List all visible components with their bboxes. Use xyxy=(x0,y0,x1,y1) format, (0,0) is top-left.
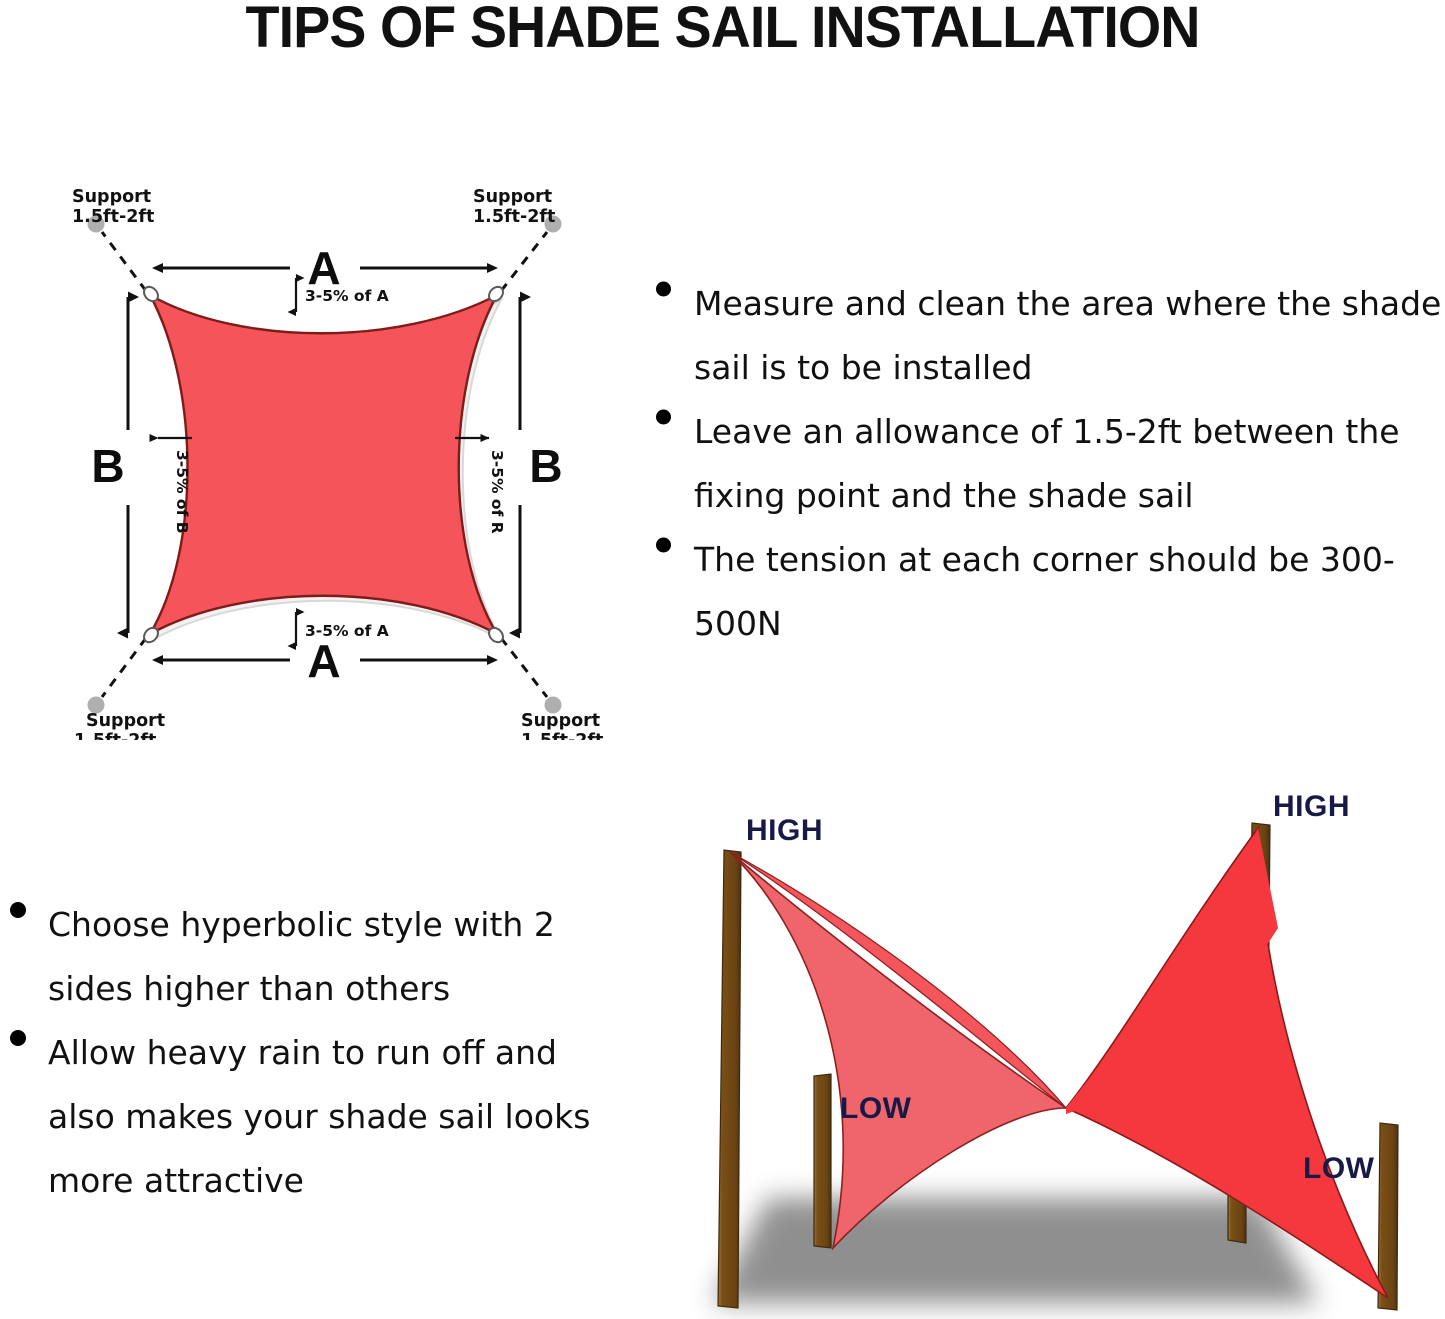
post-high-left xyxy=(718,850,741,1308)
support-line1-top-right: Support xyxy=(473,187,552,207)
bullet-dot-icon xyxy=(656,410,671,425)
support-line2-top-left: 1.5ft-2ft xyxy=(72,207,154,227)
dim-label-left-B: B xyxy=(91,440,124,492)
support-line2-top-right: 1.5ft-2ft xyxy=(473,207,555,227)
pct-label-right: 3-5% of R xyxy=(488,450,506,534)
label-high-left: HIGH xyxy=(746,814,823,847)
dim-label-bottom-A: A xyxy=(307,635,340,687)
tip-item: Allow heavy rain to run off and also mak… xyxy=(4,1021,624,1213)
pct-label-bottom: 3-5% of A xyxy=(305,622,389,640)
page-title: TIPS OF SHADE SAIL INSTALLATION xyxy=(29,0,1416,60)
label-high-right: HIGH xyxy=(1273,790,1350,823)
support-line-bottom-left xyxy=(102,638,146,697)
post-low-right xyxy=(1378,1123,1398,1310)
tip-text: Leave an allowance of 1.5-2ft between th… xyxy=(694,412,1400,515)
tip-item: Measure and clean the area where the sha… xyxy=(648,272,1445,400)
tip-text: Choose hyperbolic style with 2 sides hig… xyxy=(48,905,555,1008)
tip-text: Allow heavy rain to run off and also mak… xyxy=(48,1033,590,1200)
dim-label-right-B: B xyxy=(529,440,562,492)
tip-text: Measure and clean the area where the sha… xyxy=(694,284,1441,387)
square-sail-diagram: A 3-5% of A A 3-5% of A B 3-5% of B B 3-… xyxy=(0,160,640,740)
support-line2-bottom-right: 1.5ft-2ft xyxy=(521,731,603,740)
square-sail-shape xyxy=(150,295,497,634)
bullet-dot-icon xyxy=(656,538,671,553)
sail-left-lobe xyxy=(730,852,1066,1248)
label-low-left: LOW xyxy=(840,1092,912,1125)
tips-list-left: Choose hyperbolic style with 2 sides hig… xyxy=(4,893,624,1213)
pct-label-top: 3-5% of A xyxy=(305,287,389,305)
post-low-left xyxy=(814,1074,831,1248)
support-line1-bottom-left: Support xyxy=(86,711,165,731)
tips-list-right: Measure and clean the area where the sha… xyxy=(648,272,1445,656)
pct-label-left: 3-5% of B xyxy=(173,450,191,534)
tip-item: Choose hyperbolic style with 2 sides hig… xyxy=(4,893,624,1021)
hyperbolic-sail-diagram: HIGH HIGH LOW LOW xyxy=(618,778,1445,1319)
support-line1-bottom-right: Support xyxy=(521,711,600,731)
tip-item: The tension at each corner should be 300… xyxy=(648,528,1445,656)
bullet-dot-icon xyxy=(656,282,671,297)
support-caption-bottom-left: Support 1.5ft-2ft xyxy=(74,711,165,740)
bullet-dot-icon xyxy=(10,902,26,918)
support-line-bottom-right xyxy=(501,638,547,697)
tip-text: The tension at each corner should be 300… xyxy=(694,540,1395,643)
tip-item: Leave an allowance of 1.5-2ft between th… xyxy=(648,400,1445,528)
support-line2-bottom-left: 1.5ft-2ft xyxy=(74,731,156,740)
support-caption-bottom-right: Support 1.5ft-2ft xyxy=(521,711,603,740)
support-line1-top-left: Support xyxy=(72,187,151,207)
support-caption-top-left: Support 1.5ft-2ft xyxy=(72,187,154,227)
support-line-top-left xyxy=(102,232,146,291)
label-low-right: LOW xyxy=(1303,1152,1375,1185)
support-line-top-right xyxy=(501,232,547,291)
ground-shadow xyxy=(713,1198,1318,1303)
support-caption-top-right: Support 1.5ft-2ft xyxy=(473,187,555,227)
bullet-dot-icon xyxy=(10,1030,26,1046)
